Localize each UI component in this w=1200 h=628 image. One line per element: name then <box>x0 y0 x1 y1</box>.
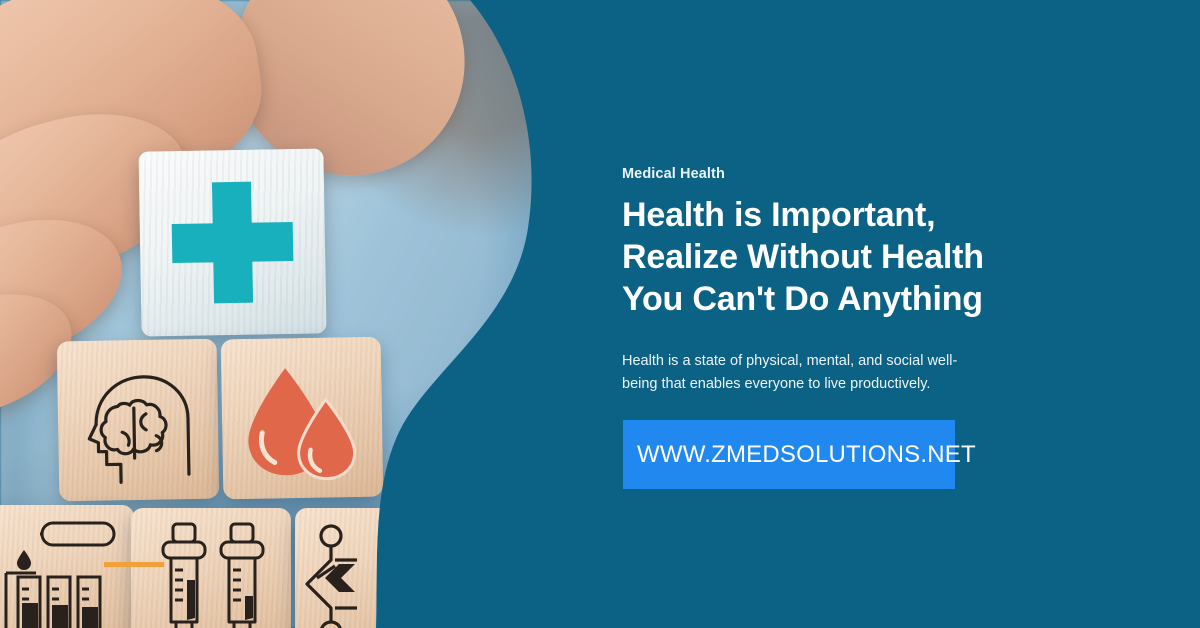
blood-drops-icon <box>221 337 384 500</box>
headline-line-1: Health is Important, <box>622 194 1022 236</box>
medical-cross-icon <box>138 148 326 336</box>
cta-button-label: WWW.ZMEDSOLUTIONS.NET <box>623 441 976 469</box>
hero-photo <box>0 0 620 628</box>
content-column: Medical Health Health is Important, Real… <box>622 0 1052 628</box>
block-medical-cross <box>138 148 326 336</box>
block-blood-drops <box>221 337 384 500</box>
website-cta-button[interactable]: WWW.ZMEDSOLUTIONS.NET <box>623 420 955 489</box>
promo-banner: Medical Health Health is Important, Real… <box>0 0 1200 628</box>
molecule-icon <box>295 508 445 628</box>
headline-line-2: Realize Without Health <box>622 236 1022 278</box>
block-head-brain <box>57 339 220 502</box>
head-brain-icon <box>57 339 220 502</box>
block-molecule <box>295 508 445 628</box>
headline-line-3: You Can't Do Anything <box>622 278 1022 320</box>
syringes-icon <box>131 508 291 628</box>
block-syringes <box>131 508 291 628</box>
description-text: Health is a state of physical, mental, a… <box>622 350 972 396</box>
orange-accent-line <box>104 562 164 567</box>
eyebrow-label: Medical Health <box>622 166 725 182</box>
page-title: Health is Important, Realize Without Hea… <box>622 194 1022 320</box>
